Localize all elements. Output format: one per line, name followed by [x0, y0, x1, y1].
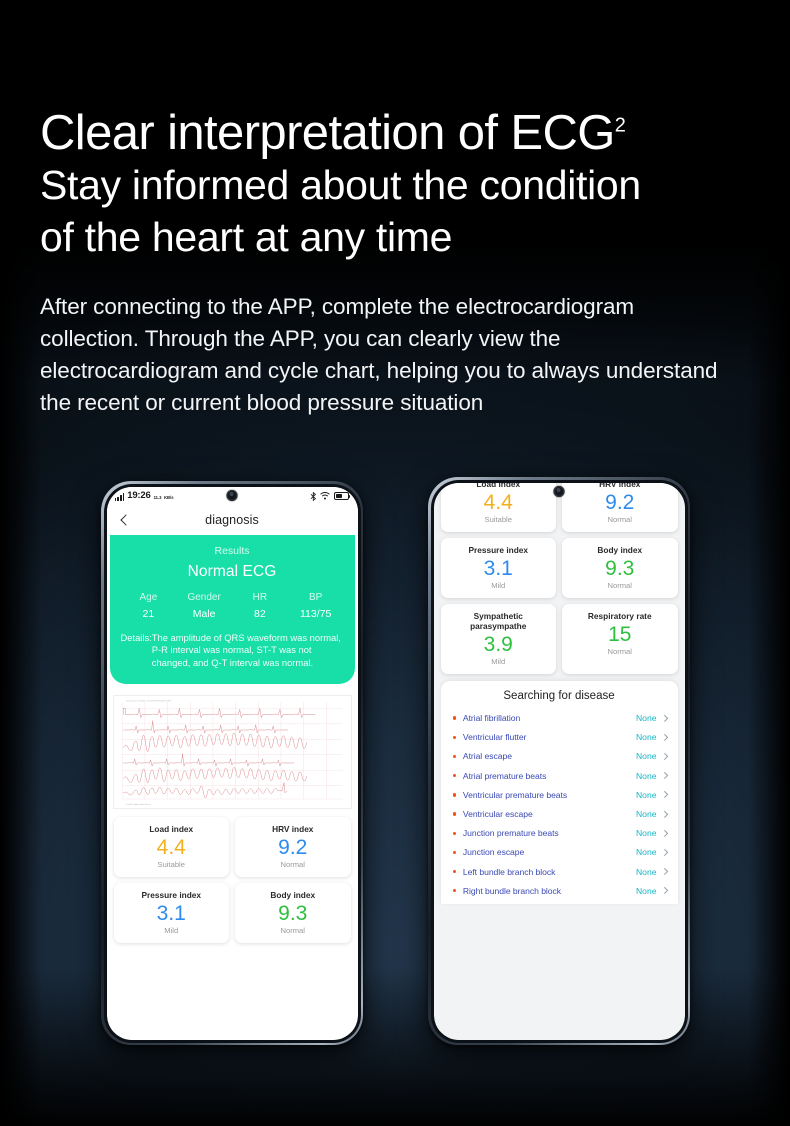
signal-bars-icon: [115, 493, 125, 501]
metric-label: Pressure index: [118, 890, 226, 900]
headline-line-3: of the heart at any time: [40, 211, 752, 263]
metric-label: Respiratory rate: [566, 611, 674, 621]
results-header-hr: HR: [232, 592, 288, 608]
metric-status: Normal: [239, 926, 347, 936]
phone-mockup-right: Load index 4.4 Suitable HRV index 9.2 No…: [428, 477, 690, 1045]
metric-label: Body index: [239, 890, 347, 900]
metric-value: 4.4: [445, 490, 553, 515]
metric-status: Mild: [445, 581, 553, 591]
results-card: Results Normal ECG Age Gender HR BP 21 M…: [110, 535, 355, 685]
disease-panel: Searching for disease Atrial fibrillatio…: [441, 681, 678, 905]
metric-value: 15: [566, 622, 674, 647]
marketing-copy: Clear interpretation of ECG2 Stay inform…: [40, 108, 752, 419]
phone-screen-left: 19:26 11.3 KB/s diagnosis: [107, 487, 358, 1040]
chevron-right-icon[interactable]: [661, 753, 668, 760]
disease-name: Ventricular escape: [463, 809, 636, 819]
headline-line-1: Clear interpretation of ECG2: [40, 108, 752, 159]
back-button[interactable]: [118, 513, 132, 527]
results-value-row: 21 Male 82 113/75: [121, 608, 344, 620]
front-camera-icon: [554, 486, 565, 497]
bullet-icon: [453, 736, 456, 739]
ecg-chart[interactable]: ECG report I: 25mm/s 2mm/mV HR 82 BP 113…: [113, 695, 352, 808]
disease-value: None: [636, 847, 657, 857]
results-value-gender: Male: [176, 608, 232, 620]
disease-name: Atrial fibrillation: [463, 713, 636, 723]
disease-row[interactable]: Left bundle branch blockNone: [441, 862, 678, 881]
disease-value: None: [636, 771, 657, 781]
status-bar-left-group: 19:26 11.3 KB/s: [115, 491, 174, 501]
disease-name: Ventricular flutter: [463, 732, 636, 742]
disease-name: Ventricular premature beats: [463, 790, 636, 800]
wifi-icon: [320, 492, 330, 500]
metric-status: Suitable: [118, 860, 226, 870]
metric-label: Load index: [445, 483, 553, 489]
disease-row[interactable]: Ventricular premature beatsNone: [441, 785, 678, 804]
details-text: The amplitude of QRS waveform was normal…: [152, 632, 344, 670]
disease-row[interactable]: Junction escapeNone: [441, 843, 678, 862]
disease-name: Junction escape: [463, 847, 636, 857]
chevron-right-icon[interactable]: [661, 811, 668, 818]
metric-status: Normal: [566, 647, 674, 657]
results-header-row: Age Gender HR BP: [121, 592, 344, 608]
metric-card-body-index[interactable]: Body index 9.3 Normal: [562, 538, 678, 598]
bullet-icon: [453, 851, 456, 854]
nav-bar-left: diagnosis: [107, 506, 358, 535]
metric-card-respiratory-rate[interactable]: Respiratory rate 15 Normal: [562, 604, 678, 674]
results-value-age: 21: [121, 608, 177, 620]
metric-label: Load index: [118, 824, 226, 834]
disease-value: None: [636, 751, 657, 761]
disease-row[interactable]: Atrial fibrillationNone: [441, 709, 678, 728]
results-verdict: Normal ECG: [121, 563, 344, 581]
results-label: Results: [121, 545, 344, 557]
bullet-icon: [453, 870, 456, 873]
chevron-right-icon[interactable]: [661, 772, 668, 779]
chevron-right-icon[interactable]: [661, 734, 668, 741]
metric-status: Normal: [566, 515, 674, 525]
disease-row[interactable]: Atrial premature beatsNone: [441, 766, 678, 785]
disease-row[interactable]: Right bundle branch blockNone: [441, 881, 678, 900]
disease-row[interactable]: Ventricular escapeNone: [441, 804, 678, 823]
metric-value: 9.3: [239, 901, 347, 926]
headline-line-2: Stay informed about the condition: [40, 159, 752, 211]
disease-value: None: [636, 732, 657, 742]
metric-label: Pressure index: [445, 545, 553, 555]
metric-value: 9.2: [566, 490, 674, 515]
metric-value: 9.3: [566, 556, 674, 581]
bullet-icon: [453, 793, 456, 796]
disease-value: None: [636, 867, 657, 877]
metric-card-load-index[interactable]: Load index 4.4 Suitable: [114, 817, 230, 877]
chevron-right-icon[interactable]: [661, 791, 668, 798]
bluetooth-icon: [310, 492, 317, 501]
results-header-age: Age: [121, 592, 177, 608]
chevron-right-icon[interactable]: [661, 715, 668, 722]
disease-row[interactable]: Atrial escapeNone: [441, 747, 678, 766]
headline-superscript: 2: [615, 115, 626, 137]
disease-value: None: [636, 828, 657, 838]
phone-mockup-left: 19:26 11.3 KB/s diagnosis: [101, 481, 363, 1045]
bullet-icon: [453, 716, 456, 719]
metric-status: Normal: [239, 860, 347, 870]
network-rate: 11.3 KB/s: [154, 491, 174, 501]
body-paragraph: After connecting to the APP, complete th…: [40, 291, 730, 419]
page-title: diagnosis: [205, 513, 259, 527]
metric-value: 4.4: [118, 835, 226, 860]
disease-value: None: [636, 809, 657, 819]
headline-text: Clear interpretation of ECG: [40, 106, 615, 160]
status-time: 19:26: [127, 491, 150, 501]
metric-card-body-index[interactable]: Body index 9.3 Normal: [235, 883, 351, 943]
chevron-right-icon[interactable]: [661, 868, 668, 875]
disease-row[interactable]: Ventricular flutterNone: [441, 728, 678, 747]
phone-screen-right: Load index 4.4 Suitable HRV index 9.2 No…: [434, 483, 685, 1040]
front-camera-icon: [227, 490, 238, 501]
disease-name: Atrial premature beats: [463, 771, 636, 781]
svg-text:ECG report I: 25mm/s 2mm/m: ECG report I: 25mm/s 2mm/mV HR 82 BP 113…: [126, 700, 172, 703]
metric-status: Normal: [566, 581, 674, 591]
bullet-icon: [453, 832, 456, 835]
bullet-icon: [453, 889, 456, 892]
metric-value: 9.2: [239, 835, 347, 860]
metric-card-hrv-index[interactable]: HRV index 9.2 Normal: [562, 483, 678, 532]
disease-name: Junction premature beats: [463, 828, 636, 838]
disease-name: Atrial escape: [463, 751, 636, 761]
metric-card-pressure-index[interactable]: Pressure index 3.1 Mild: [114, 883, 230, 943]
metric-label: Body index: [566, 545, 674, 555]
disease-panel-title: Searching for disease: [441, 690, 678, 709]
bullet-icon: [453, 812, 456, 815]
metric-value: 3.1: [445, 556, 553, 581]
metric-label: Sympathetic parasympathe: [445, 611, 553, 631]
disease-value: None: [636, 790, 657, 800]
results-value-hr: 82: [232, 608, 288, 620]
network-rate-value: 11.3: [154, 495, 162, 500]
results-header-bp: BP: [288, 592, 344, 608]
results-header-gender: Gender: [176, 592, 232, 608]
svg-text:Lead II rhythm strip 10 sec: Lead II rhythm strip 10 sec: [126, 804, 150, 807]
disease-name: Left bundle branch block: [463, 867, 636, 877]
metric-card-load-index[interactable]: Load index 4.4 Suitable: [441, 483, 557, 532]
metric-label: HRV index: [239, 824, 347, 834]
metric-status: Mild: [118, 926, 226, 936]
disease-list: Atrial fibrillationNoneVentricular flutt…: [441, 709, 678, 901]
disease-name: Right bundle branch block: [463, 886, 636, 896]
results-table: Age Gender HR BP 21 Male 82 113/75: [121, 592, 344, 620]
status-bar-right-group: [310, 492, 349, 501]
results-value-bp: 113/75: [288, 608, 344, 620]
disease-value: None: [636, 886, 657, 896]
details-label: Details:: [121, 632, 152, 670]
metric-cards-right: Load index 4.4 Suitable HRV index 9.2 No…: [434, 483, 685, 674]
chevron-right-icon[interactable]: [661, 849, 668, 856]
metric-label: HRV index: [566, 483, 674, 489]
metric-status: Suitable: [445, 515, 553, 525]
metric-card-sympathetic-parasympathetic[interactable]: Sympathetic parasympathe 3.9 Mild: [441, 604, 557, 674]
metric-card-pressure-index[interactable]: Pressure index 3.1 Mild: [441, 538, 557, 598]
chevron-right-icon[interactable]: [661, 830, 668, 837]
results-details: Details: The amplitude of QRS waveform w…: [121, 632, 344, 670]
metric-value: 3.1: [118, 901, 226, 926]
chevron-right-icon[interactable]: [661, 887, 668, 894]
battery-icon: [334, 492, 349, 500]
metric-status: Mild: [445, 657, 553, 667]
network-rate-unit: KB/s: [164, 495, 174, 500]
bullet-icon: [453, 755, 456, 758]
metric-cards-left: Load index 4.4 Suitable HRV index 9.2 No…: [107, 809, 358, 943]
metric-value: 3.9: [445, 632, 553, 657]
metric-card-hrv-index[interactable]: HRV index 9.2 Normal: [235, 817, 351, 877]
disease-row[interactable]: Junction premature beatsNone: [441, 824, 678, 843]
disease-value: None: [636, 713, 657, 723]
bullet-icon: [453, 774, 456, 777]
ecg-trace-svg: ECG report I: 25mm/s 2mm/mV HR 82 BP 113…: [114, 696, 351, 807]
